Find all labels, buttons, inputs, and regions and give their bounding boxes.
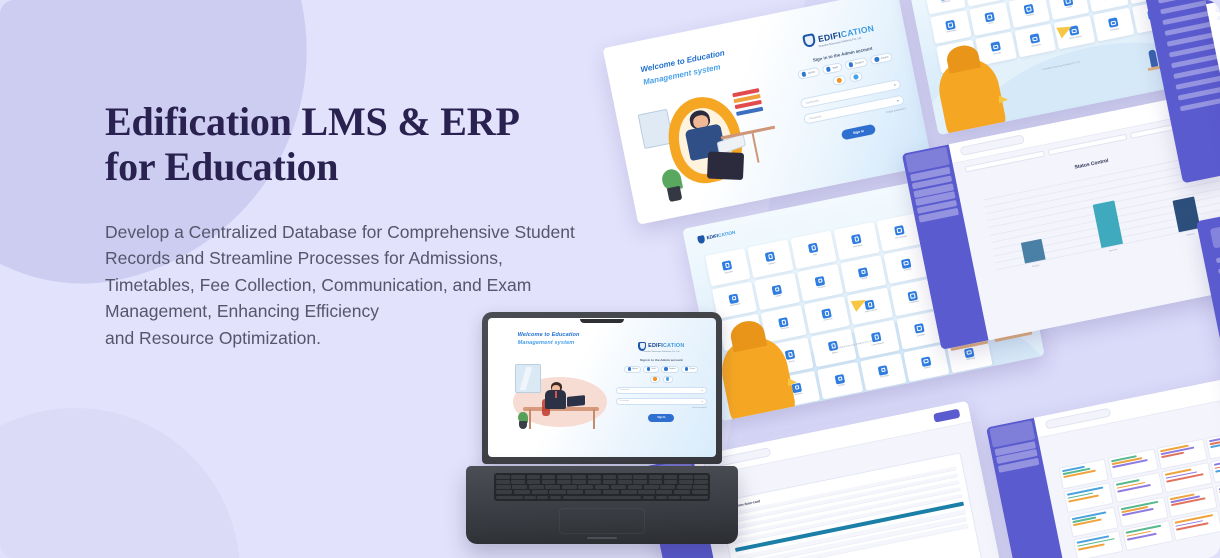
- keyboard-key[interactable]: [512, 485, 527, 489]
- module-tile[interactable]: Admission: [705, 248, 751, 286]
- module-tile-label: Transport: [817, 286, 825, 290]
- module-tile[interactable]: Staff: [791, 231, 837, 269]
- screen-forgot-password-link[interactable]: Forgot password?: [616, 407, 707, 409]
- module-icon: [990, 42, 1001, 53]
- keyboard-row: [496, 490, 708, 494]
- keyboard-row: [496, 485, 708, 489]
- radio-icon: [837, 78, 842, 83]
- radio-icon: [666, 377, 669, 380]
- sidebar-menu[interactable]: [1204, 241, 1220, 384]
- module-tile-label: Inventory: [1105, 0, 1113, 2]
- screen-signin-heading: Sign in to the Admin account: [616, 358, 707, 362]
- keyboard-key[interactable]: [644, 485, 659, 489]
- module-tile-label: Accounts: [993, 52, 1001, 56]
- radio-icon: [685, 367, 688, 370]
- laptop-lid: Welcome to Education Management system: [482, 312, 722, 464]
- module-tile[interactable]: Transport: [797, 264, 843, 302]
- module-icon: [914, 323, 925, 334]
- form-panel[interactable]: admission-form-card: [719, 452, 991, 558]
- keyboard-key[interactable]: [603, 490, 619, 494]
- screen-illustration: [509, 360, 612, 436]
- keyboard-key[interactable]: [572, 475, 586, 479]
- module-tile[interactable]: Settings: [817, 362, 863, 400]
- module-icon: [901, 258, 912, 269]
- module-tile-label: Online Classes: [865, 309, 878, 314]
- role-option-guest[interactable]: [663, 376, 673, 383]
- app-logo: EDIFICATION: [697, 229, 736, 244]
- module-icon: [765, 252, 776, 263]
- shield-crest-icon: [697, 235, 705, 244]
- module-tile-label: Messages: [794, 392, 803, 396]
- role-option-parent[interactable]: Parent: [681, 366, 698, 373]
- keyboard-key[interactable]: [611, 485, 626, 489]
- keyboard-key[interactable]: [694, 475, 708, 479]
- radio-icon: [664, 367, 667, 370]
- keyboard-key[interactable]: [572, 480, 586, 484]
- chart-bar[interactable]: [1173, 197, 1200, 232]
- screen-welcome-text: Welcome to Education Management system: [518, 331, 580, 348]
- screen-role-selector-secondary[interactable]: [616, 376, 707, 383]
- radio-icon: [647, 367, 650, 370]
- keyboard-key[interactable]: [532, 490, 548, 494]
- sidebar-logo: [1210, 214, 1220, 249]
- keyboard-key[interactable]: [557, 475, 571, 479]
- hero-banner: Edification LMS & ERP for Education Deve…: [0, 0, 1220, 558]
- module-tile-label: Homework: [1032, 44, 1041, 48]
- module-icon: [772, 284, 783, 295]
- timetable-cell[interactable]: [1206, 428, 1220, 459]
- keyboard-key[interactable]: [679, 475, 693, 479]
- keyboard-key[interactable]: [618, 475, 632, 479]
- page-title: Edification LMS & ERP for Education: [105, 100, 685, 190]
- module-icon: [808, 243, 819, 254]
- laptop-screen[interactable]: Welcome to Education Management system: [488, 318, 716, 457]
- role-option-admin[interactable]: Admin: [797, 67, 820, 80]
- keyboard-key[interactable]: [603, 480, 617, 484]
- paper-plane-icon: [999, 96, 1008, 104]
- keyboard-key[interactable]: [618, 480, 632, 484]
- module-icon: [822, 308, 833, 319]
- module-tile-label: Backup: [924, 366, 931, 369]
- module-icon: [828, 341, 839, 352]
- keyboard-key[interactable]: [496, 480, 510, 484]
- module-tile-label: Complaint: [917, 334, 926, 338]
- module-icon: [945, 20, 956, 31]
- module-tile[interactable]: Library: [754, 272, 800, 310]
- module-icon: [729, 293, 740, 304]
- keyboard-key[interactable]: [588, 480, 602, 484]
- user-icon: ●: [893, 83, 896, 87]
- screen-signin-button[interactable]: Sign In: [648, 414, 674, 422]
- module-tile-label: Students: [768, 262, 776, 266]
- keyboard-key[interactable]: [542, 475, 556, 479]
- module-tile-label: Admission: [724, 271, 733, 275]
- module-icon: [778, 317, 789, 328]
- keyboard-key[interactable]: [633, 480, 647, 484]
- keyboard-key[interactable]: [638, 490, 654, 494]
- module-tile-label: Settings: [838, 384, 845, 387]
- laptop-keyboard[interactable]: [494, 473, 710, 501]
- keyboard-key[interactable]: [562, 485, 577, 489]
- module-tile-label: Certificates: [910, 301, 920, 305]
- laptop-mockup: Welcome to Education Management system: [466, 312, 738, 544]
- module-icon: [984, 12, 995, 23]
- module-tile-label: Admission: [941, 0, 950, 4]
- module-tile[interactable]: User Roles: [860, 353, 906, 391]
- radio-icon: [653, 377, 656, 380]
- module-tile-label: Fee Collection: [895, 235, 907, 239]
- module-tile-label: Inventory: [904, 268, 912, 272]
- module-icon: [1108, 18, 1119, 29]
- module-tile-label: Transport: [1026, 14, 1034, 18]
- role-option-staff[interactable]: Staff: [643, 366, 658, 373]
- module-tile[interactable]: Students: [748, 240, 794, 278]
- chart-x-tick-label: Pending: [1032, 265, 1040, 268]
- keyboard-key[interactable]: [588, 475, 602, 479]
- decor-blob-bottom-left: [0, 408, 240, 558]
- module-icon: [878, 365, 889, 376]
- module-tile-label: Library: [775, 295, 781, 298]
- module-tile-label: Accounts: [781, 327, 789, 331]
- keyboard-key[interactable]: [524, 496, 535, 500]
- timetable-grid[interactable]: [1058, 418, 1220, 558]
- keyboard-key[interactable]: [595, 485, 610, 489]
- keyboard-key[interactable]: [529, 485, 544, 489]
- role-option-guest[interactable]: [849, 71, 863, 82]
- module-tile-label: User Roles: [880, 375, 890, 379]
- module-tile[interactable]: Attendance: [834, 222, 880, 260]
- keyboard-row: [496, 480, 708, 484]
- module-tile-label: Online Classes: [1069, 36, 1082, 41]
- keyboard-key[interactable]: [550, 496, 561, 500]
- keyboard-key[interactable]: [677, 485, 692, 489]
- primary-action-button[interactable]: [933, 408, 960, 422]
- module-icon: [894, 225, 905, 236]
- chart-x-tick-label: Approved: [1109, 249, 1118, 253]
- module-tile-label: Certificates: [1110, 28, 1120, 32]
- keyboard-key[interactable]: [496, 490, 512, 494]
- role-option-parent[interactable]: Parent: [870, 52, 894, 65]
- module-tile[interactable]: Library: [969, 2, 1011, 36]
- module-tile[interactable]: Accounts: [761, 305, 807, 343]
- role-option-staff[interactable]: Staff: [821, 62, 842, 75]
- keyboard-key[interactable]: [496, 496, 523, 500]
- lock-icon: ●: [701, 400, 702, 403]
- module-tile-label: Attendance: [853, 244, 863, 248]
- role-option-alumni[interactable]: [650, 376, 660, 383]
- keyboard-key[interactable]: [643, 496, 654, 500]
- screen-password-field[interactable]: Password ●: [616, 398, 707, 405]
- keyboard-key[interactable]: [511, 475, 525, 479]
- keyboard-key[interactable]: [496, 485, 511, 489]
- timetable-entry: [1214, 458, 1220, 466]
- radio-icon: [628, 367, 631, 370]
- timetable-card[interactable]: [986, 363, 1220, 558]
- role-option-student[interactable]: Student: [844, 57, 869, 70]
- keyboard-row: [496, 475, 708, 479]
- keyboard-key[interactable]: [633, 475, 647, 479]
- module-tile[interactable]: Examination: [930, 10, 972, 44]
- screen-brand-logo: EDIFICATION: [616, 342, 707, 351]
- keyboard-key[interactable]: [511, 480, 525, 484]
- keyboard-key[interactable]: [674, 490, 690, 494]
- chart-bar[interactable]: [1020, 238, 1045, 263]
- module-icon: [908, 291, 919, 302]
- module-tile[interactable]: Backup: [904, 344, 950, 382]
- radio-icon: [826, 67, 831, 72]
- role-option-admin[interactable]: Admin: [624, 366, 641, 373]
- keyboard-key[interactable]: [603, 475, 617, 479]
- module-tile-label: Staff: [813, 254, 817, 257]
- keyboard-key[interactable]: [656, 490, 672, 494]
- radio-icon: [874, 57, 879, 62]
- laptop-base: [466, 466, 738, 544]
- screen-login-panel[interactable]: EDIFICATION Chandra Swaroopa Solutions P…: [616, 342, 707, 434]
- module-tile-label: Hostel: [1067, 6, 1073, 9]
- keyboard-key[interactable]: [679, 480, 693, 484]
- keyboard-key[interactable]: [692, 490, 708, 494]
- module-icon: [851, 234, 862, 245]
- keyboard-key[interactable]: [649, 475, 663, 479]
- keyboard-key[interactable]: [649, 480, 663, 484]
- screen-brand-tagline: Chandra Swaroopa Solutions Pvt. Ltd.: [616, 351, 707, 353]
- keyboard-key[interactable]: [545, 485, 560, 489]
- keyboard-key[interactable]: [537, 496, 548, 500]
- keyboard-key[interactable]: [567, 490, 583, 494]
- screen-username-field[interactable]: Username ●: [616, 387, 707, 394]
- radio-icon: [801, 72, 806, 77]
- keyboard-key[interactable]: [668, 496, 679, 500]
- keyboard-key[interactable]: [542, 480, 556, 484]
- webcam-notch: [580, 319, 624, 323]
- shield-crest-icon: [638, 342, 646, 351]
- keyboard-key[interactable]: [681, 496, 708, 500]
- laptop-front-notch: [587, 537, 617, 539]
- keyboard-key[interactable]: [496, 475, 510, 479]
- module-tile[interactable]: Hostel: [841, 255, 887, 293]
- chart-bar[interactable]: [1093, 201, 1123, 248]
- keyboard-key[interactable]: [585, 490, 601, 494]
- laptop-trackpad[interactable]: [559, 508, 645, 534]
- keyboard-key[interactable]: [664, 480, 678, 484]
- paper-plane-icon: [788, 379, 797, 387]
- user-icon: ●: [701, 389, 702, 392]
- keyboard-key[interactable]: [664, 475, 678, 479]
- module-tile-label: Leave Request: [872, 342, 885, 347]
- keyboard-row: [496, 496, 708, 500]
- module-icon: [785, 350, 796, 361]
- keyboard-key[interactable]: [514, 490, 530, 494]
- module-icon: [858, 267, 869, 278]
- keyboard-key[interactable]: [563, 496, 641, 500]
- module-tile-label: Examination: [730, 303, 741, 307]
- keyboard-key[interactable]: [621, 490, 637, 494]
- keyboard-key[interactable]: [694, 480, 708, 484]
- module-tile-label: Help Desk: [966, 357, 975, 361]
- module-icon: [921, 356, 932, 367]
- module-icon: [722, 260, 733, 271]
- keyboard-key[interactable]: [628, 485, 643, 489]
- radio-icon: [853, 74, 858, 79]
- keyboard-key[interactable]: [527, 480, 541, 484]
- role-option-student[interactable]: Student: [661, 366, 679, 373]
- module-tile[interactable]: Leave Request: [854, 320, 900, 358]
- module-tile-label: Homework: [824, 318, 833, 322]
- chart-x-tick-label: Rejected: [1187, 233, 1195, 237]
- keyboard-key[interactable]: [549, 490, 565, 494]
- lock-icon: ●: [897, 98, 900, 102]
- keyboard-key[interactable]: [527, 475, 541, 479]
- module-tile-label: Hostel: [862, 277, 868, 280]
- screen-role-selector[interactable]: Admin Staff Student Parent: [616, 366, 707, 373]
- module-tile-label: Library: [988, 22, 994, 25]
- module-icon: [835, 373, 846, 384]
- module-tile-label: Events: [789, 360, 795, 363]
- radio-icon: [848, 62, 853, 67]
- module-tile[interactable]: Homework: [804, 296, 850, 334]
- module-icon: [815, 275, 826, 286]
- role-option-alumni[interactable]: [832, 75, 846, 86]
- keyboard-key[interactable]: [557, 480, 571, 484]
- login-form-panel[interactable]: EDIFICATION Chandra Swaroopa Solutions P…: [787, 18, 909, 147]
- module-icon: [1030, 34, 1041, 45]
- keyboard-key[interactable]: [578, 485, 593, 489]
- keyboard-key[interactable]: [693, 485, 708, 489]
- module-tile-label: Examination: [947, 30, 958, 34]
- module-icon: [1024, 4, 1035, 15]
- keyboard-key[interactable]: [656, 496, 667, 500]
- module-tile-label: Gallery: [832, 351, 838, 354]
- keyboard-key[interactable]: [660, 485, 675, 489]
